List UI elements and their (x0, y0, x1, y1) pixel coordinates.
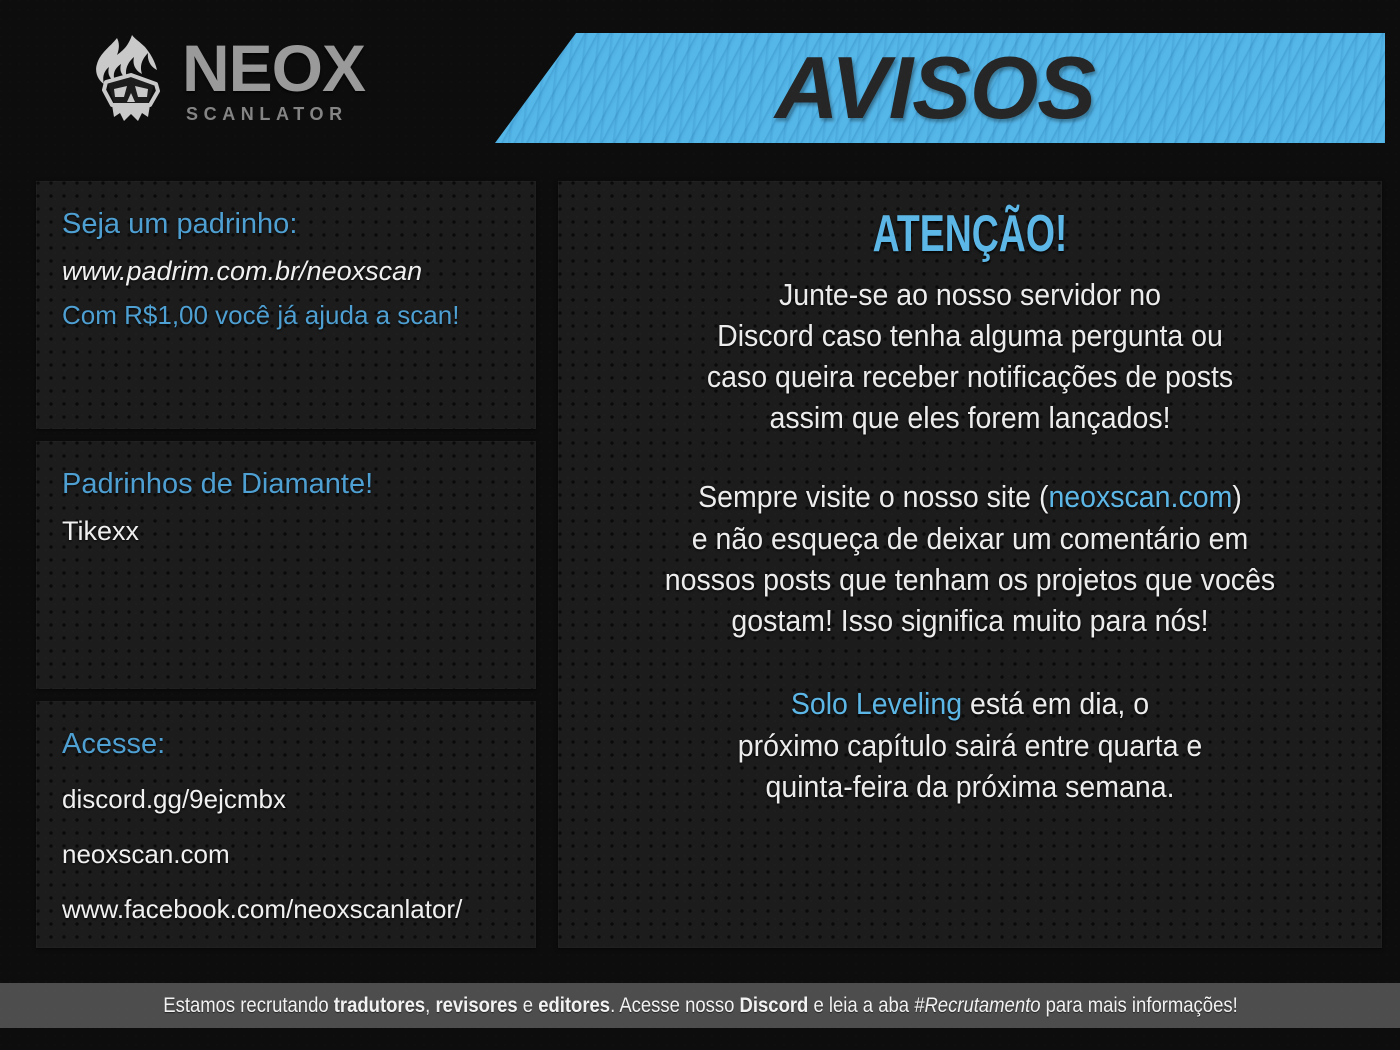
notice-line: Discord caso tenha alguma pergunta ou (619, 315, 1322, 356)
atencao-title: ATENÇÃO! (695, 207, 1245, 262)
notice-line: caso queira receber notificações de post… (619, 356, 1322, 397)
announcement-page: NEOX SCANLATOR AVISOS Seja um padrinho: … (0, 0, 1400, 1050)
acesse-heading: Acesse: (62, 725, 510, 764)
notice-line: e não esqueça de deixar um comentário em (619, 518, 1322, 559)
footer-text: Estamos recrutando tradutores, revisores… (163, 994, 1237, 1018)
notice-line-series: Solo Leveling está em dia, o (619, 683, 1322, 724)
panel-seja-um-padrinho: Seja um padrinho: www.padrim.com.br/neox… (36, 181, 536, 429)
footer-seg: para mais informações! (1040, 994, 1237, 1017)
acesse-link-discord[interactable]: discord.gg/9ejcmbx (62, 780, 510, 819)
footer-seg: e leia a aba (808, 994, 914, 1017)
acesse-link-site[interactable]: neoxscan.com (62, 835, 510, 874)
diamante-supporter: Tikexx (62, 511, 510, 552)
notice-line: próximo capítulo sairá entre quarta e (619, 725, 1322, 766)
header: NEOX SCANLATOR AVISOS (0, 0, 1400, 168)
flaming-skull-icon (88, 33, 174, 129)
spacer (588, 641, 1352, 683)
footer-seg: , (425, 994, 435, 1017)
logo-subtitle: SCANLATOR (186, 104, 365, 125)
recruitment-footer: Estamos recrutando tradutores, revisores… (0, 983, 1400, 1028)
footer-role-tradutores: tradutores (333, 994, 424, 1017)
spacer (588, 438, 1352, 476)
notice-line: nossos posts que tenham os projetos que … (619, 559, 1322, 600)
panel-acesse: Acesse: discord.gg/9ejcmbx neoxscan.com … (36, 701, 536, 948)
notice-site-post: ) (1232, 479, 1242, 514)
footer-hashtag: #Recrutamento (914, 994, 1040, 1017)
panel-atencao: ATENÇÃO! Junte-se ao nosso servidor no D… (558, 181, 1382, 948)
notice-site-link[interactable]: neoxscan.com (1048, 479, 1232, 514)
acesse-link-facebook[interactable]: www.facebook.com/neoxscanlator/ (62, 890, 510, 929)
panel-padrinhos-diamante: Padrinhos de Diamante! Tikexx (36, 441, 536, 689)
avisos-banner: AVISOS (495, 33, 1385, 143)
banner-title: AVISOS (495, 37, 1375, 139)
series-title: Solo Leveling (791, 686, 962, 721)
padrinho-heading: Seja um padrinho: (62, 205, 510, 244)
notice-site-pre: Sempre visite o nosso site ( (698, 479, 1048, 514)
notice-line: Junte-se ao nosso servidor no (619, 274, 1322, 315)
footer-seg: e (517, 994, 538, 1017)
diamante-heading: Padrinhos de Diamante! (62, 465, 510, 504)
brand-logo: NEOX SCANLATOR (88, 33, 365, 129)
series-status: está em dia, o (962, 686, 1149, 721)
notice-line: gostam! Isso significa muito para nós! (619, 600, 1322, 641)
footer-seg: Estamos recrutando (163, 994, 334, 1017)
logo-wordmark: NEOX (182, 37, 365, 100)
padrinho-note: Com R$1,00 você já ajuda a scan! (62, 296, 510, 335)
notice-line-site: Sempre visite o nosso site (neoxscan.com… (619, 476, 1322, 517)
notice-line: quinta-feira da próxima semana. (619, 766, 1322, 807)
footer-discord[interactable]: Discord (739, 994, 808, 1017)
footer-role-editores: editores (538, 994, 610, 1017)
footer-role-revisores: revisores (435, 994, 517, 1017)
padrinho-url[interactable]: www.padrim.com.br/neoxscan (62, 251, 510, 292)
notice-line: assim que eles forem lançados! (619, 397, 1322, 438)
footer-seg: . Acesse nosso (610, 994, 739, 1017)
